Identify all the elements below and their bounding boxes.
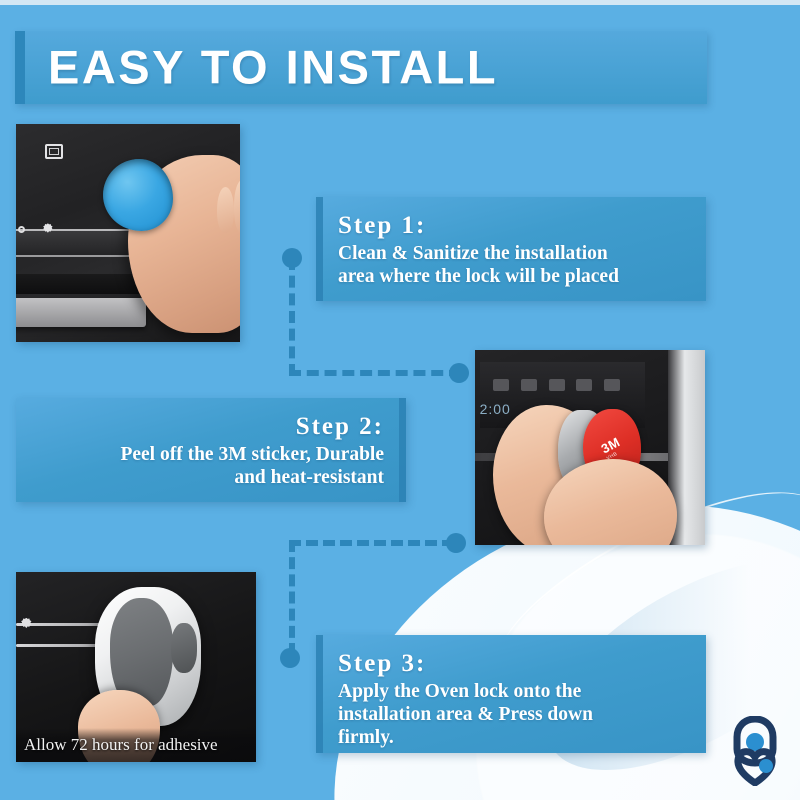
step-3-body: Apply the Oven lock onto the installatio…	[338, 680, 686, 749]
connector-2-vertical-line	[289, 540, 295, 655]
oven-touch-button	[576, 379, 592, 391]
oven-touch-button	[549, 379, 565, 391]
connector-2-horizontal-line	[289, 540, 454, 546]
step-1-title: Step 1:	[338, 211, 686, 240]
step-1-body-line-2: area where the lock will be placed	[338, 265, 686, 288]
oven-touch-button	[604, 379, 620, 391]
connector-1-horizontal-line	[289, 370, 461, 376]
blue-sponge	[103, 159, 172, 231]
step-2-title: Step 2:	[36, 412, 384, 441]
step-2-body-line-2: and heat-resistant	[36, 466, 384, 489]
lock-side-button	[171, 623, 196, 673]
connector-2-end-dot	[280, 648, 300, 668]
step-3-box: Step 3: Apply the Oven lock onto the ins…	[316, 635, 706, 753]
heart-accent-circle	[759, 759, 773, 773]
step-3-body-line-2: installation area & Press down	[338, 703, 686, 726]
step-1-box: Step 1: Clean & Sanitize the installatio…	[316, 197, 706, 301]
step-2-body-line-1: Peel off the 3M sticker, Durable	[36, 443, 384, 466]
step-1-body: Clean & Sanitize the installation area w…	[338, 242, 686, 288]
infographic-canvas: EASY TO INSTALL Step 1: Clean & Sanitize…	[0, 0, 800, 800]
step-1-body-line-1: Clean & Sanitize the installation	[338, 242, 686, 265]
oven-handle	[16, 298, 146, 326]
step-2-body: Peel off the 3M sticker, Durable and hea…	[36, 443, 384, 489]
connector-1-end-dot	[449, 363, 469, 383]
step-1-accent-bar	[316, 197, 323, 301]
padlock-heart-logo	[724, 716, 786, 786]
finger	[217, 187, 234, 233]
step-3-body-line-3: firmly.	[338, 726, 686, 749]
photo-clean-surface	[16, 124, 240, 342]
photo-1-content	[16, 124, 240, 342]
oven-clock-display: 2:00	[480, 401, 511, 417]
photo-3-caption: Allow 72 hours for adhesive	[16, 728, 256, 762]
header-banner: EASY TO INSTALL	[15, 31, 707, 104]
oven-touch-button	[521, 379, 537, 391]
step-3-accent-bar	[316, 635, 323, 753]
photo-peel-sticker: 2:00 3M VHB	[475, 350, 705, 545]
step-2-box: Step 2: Peel off the 3M sticker, Durable…	[16, 398, 406, 502]
step-2-accent-bar	[399, 398, 406, 502]
oven-display-icon	[45, 144, 63, 159]
oven-touch-button	[493, 379, 509, 391]
page-title: EASY TO INSTALL	[48, 39, 498, 94]
top-edge-strip	[0, 0, 800, 5]
header-accent-bar	[15, 31, 25, 104]
photo-press-lock: Allow 72 hours for adhesive	[16, 572, 256, 762]
step-3-body-line-1: Apply the Oven lock onto the	[338, 680, 686, 703]
connector-1-vertical-line	[289, 258, 295, 376]
sticker-brand-text: 3M VHB	[598, 434, 625, 461]
step-3-title: Step 3:	[338, 649, 686, 678]
finger	[234, 180, 240, 234]
photo-2-content: 2:00 3M VHB	[475, 350, 705, 545]
